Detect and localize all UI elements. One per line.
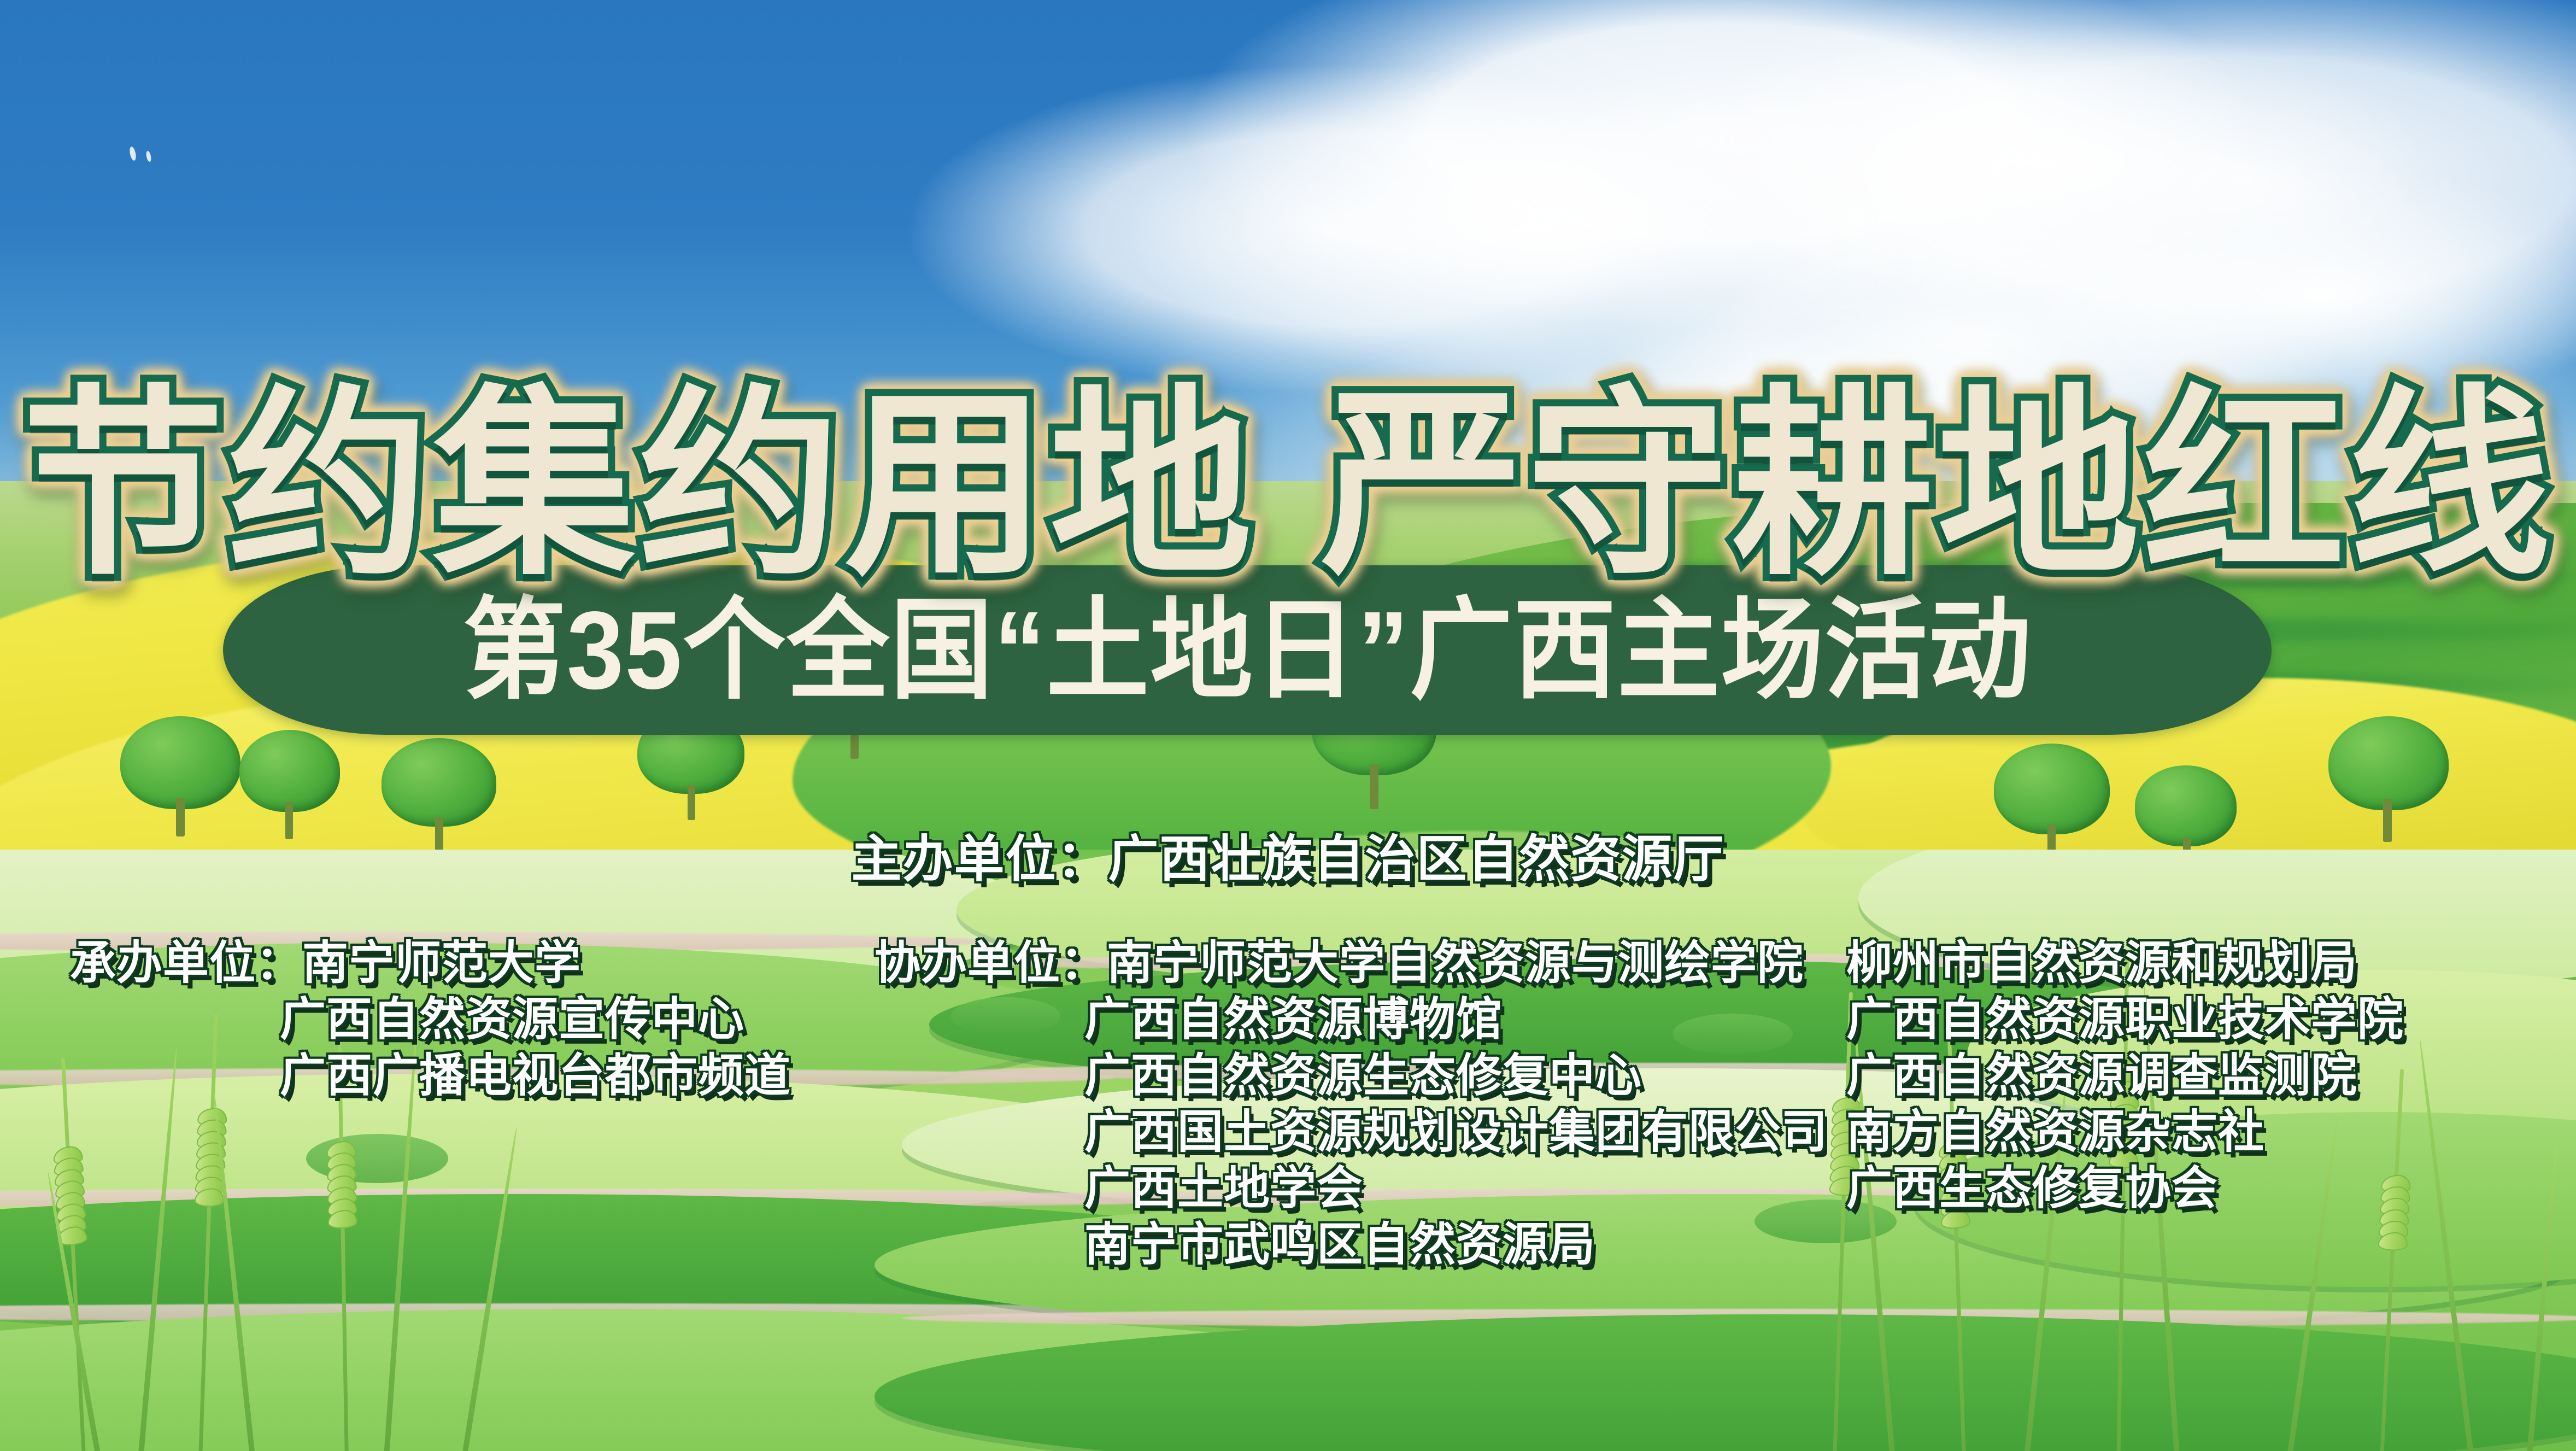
title-part-1: 节约集约用地 <box>22 384 1255 587</box>
organizer-item: 广西自然资源宣传中心 <box>70 991 791 1048</box>
host-organizer-line: 主办单位：广西壮族自治区自然资源厅 <box>0 818 2576 891</box>
organizer-item: 广西自然资源调查监测院 <box>1846 1048 2404 1104</box>
organizer-item: 广西广播电视台都市频道 <box>70 1048 791 1104</box>
page-title: 节约集约用地严守耕地红线 <box>0 384 2576 587</box>
subtitle-text: 第35个全国“土地日”广西主场活动 <box>463 595 2032 705</box>
organizer-item: 协办单位：南宁师范大学自然资源与测绘学院 <box>875 935 1828 991</box>
poster-canvas: 节约集约用地严守耕地红线 第35个全国“土地日”广西主场活动 主办单位：广西壮族… <box>0 0 2576 1451</box>
organizer-column-right: 柳州市自然资源和规划局 广西自然资源职业技术学院 广西自然资源调查监测院 南方自… <box>1846 935 2404 1216</box>
organizer-column-left: 承办单位：南宁师范大学 广西自然资源宣传中心 广西广播电视台都市频道 <box>70 935 791 1104</box>
organizer-item: 广西土地学会 <box>875 1160 1828 1216</box>
organizer-item: 广西自然资源生态修复中心 <box>875 1048 1828 1104</box>
title-part-2: 严守耕地红线 <box>1321 384 2554 587</box>
organizer-column-middle: 协办单位：南宁师范大学自然资源与测绘学院 广西自然资源博物馆 广西自然资源生态修… <box>875 935 1828 1273</box>
organizer-item: 柳州市自然资源和规划局 <box>1846 935 2404 991</box>
organizer-item: 广西国土资源规划设计集团有限公司 <box>875 1104 1828 1160</box>
organizer-item: 广西自然资源博物馆 <box>875 991 1828 1048</box>
organizer-item: 广西自然资源职业技术学院 <box>1846 991 2404 1048</box>
organizer-item: 南宁市武鸣区自然资源局 <box>875 1216 1828 1273</box>
organizer-item: 广西生态修复协会 <box>1846 1160 2404 1216</box>
organizer-item: 南方自然资源杂志社 <box>1846 1104 2404 1160</box>
organizer-item: 承办单位：南宁师范大学 <box>70 935 791 991</box>
